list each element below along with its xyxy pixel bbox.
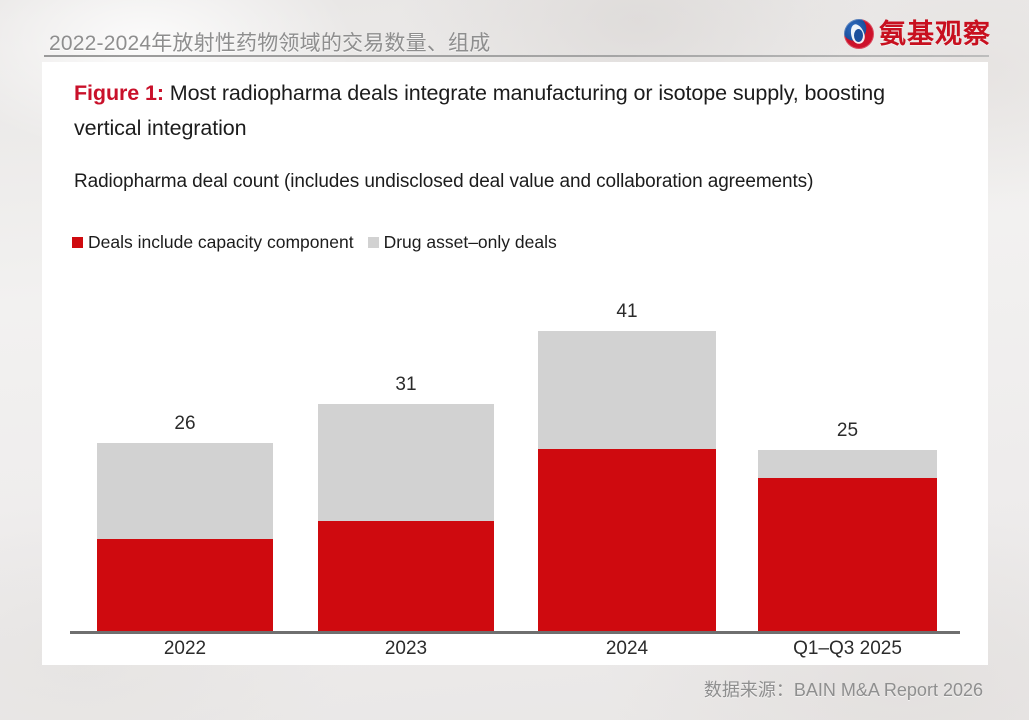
brand-circle-icon [844,19,874,49]
brand-logo: 氨基观察 [844,17,991,51]
header-divider [44,55,989,57]
bar-segment-drug-asset [318,404,494,521]
bar-group-2024[interactable]: 41 2024 [538,331,716,631]
bar-segment-drug-asset [97,443,273,539]
stacked-bar-chart: 26 2022 31 2023 41 2024 25 [42,62,988,665]
bar-total-label: 25 [758,420,937,442]
bar-total-label: 31 [318,374,494,396]
x-axis-tick-label: 2022 [83,638,287,660]
brand-logo-text: 氨基观察 [879,21,991,48]
bar-stack [758,450,937,631]
bar-group-2022[interactable]: 26 2022 [97,443,273,631]
bar-segment-drug-asset [538,331,716,449]
bar-segment-drug-asset [758,450,937,478]
bar-total-label: 41 [538,301,716,323]
bar-stack [538,331,716,631]
bar-segment-capacity [97,539,273,631]
bar-group-q1-q3-2025[interactable]: 25 Q1–Q3 2025 [758,450,937,631]
x-axis-line [70,631,960,634]
bar-stack [97,443,273,631]
page-title: 2022-2024年放射性药物领域的交易数量、组成 [49,27,490,57]
data-source-note: 数据来源：BAIN M&A Report 2026 [704,676,983,702]
figure-card: Figure 1: Most radiopharma deals integra… [42,62,988,665]
bar-stack [318,404,494,631]
bar-total-label: 26 [97,413,273,435]
x-axis-tick-label: 2023 [304,638,508,660]
bar-segment-capacity [318,521,494,631]
bar-segment-capacity [538,449,716,631]
bar-segment-capacity [758,478,937,631]
slide-header: 2022-2024年放射性药物领域的交易数量、组成 氨基观察 [0,0,1029,57]
bar-group-2023[interactable]: 31 2023 [318,404,494,631]
x-axis-tick-label: 2024 [524,638,730,660]
x-axis-tick-label: Q1–Q3 2025 [744,638,951,660]
